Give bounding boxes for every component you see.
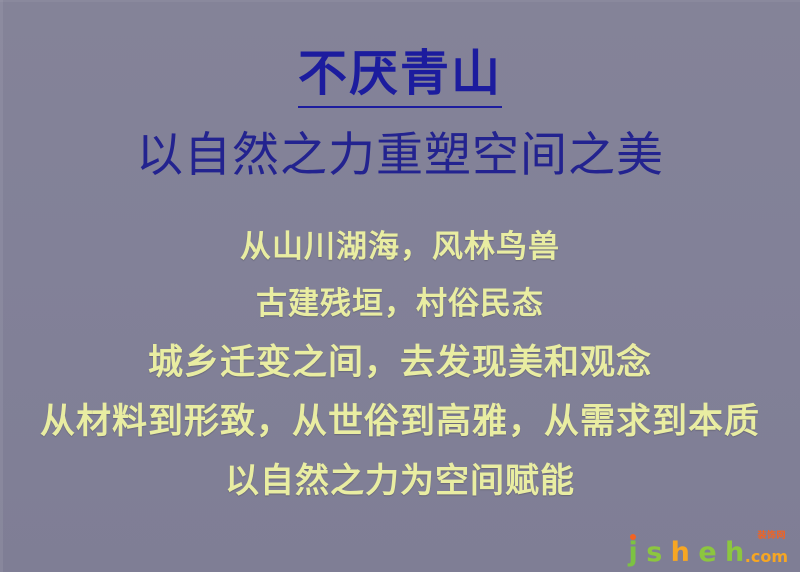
watermark-dot-icon bbox=[630, 534, 636, 540]
body-line-4: 从材料到形致，从世俗到高雅，从需求到本质 bbox=[0, 405, 800, 440]
watermark-letter-s: s bbox=[646, 537, 662, 568]
body-line-1: 从山川湖海，风林鸟兽 bbox=[0, 232, 800, 263]
watermark-tld: .com bbox=[745, 549, 788, 566]
watermark-letter-h1: h bbox=[671, 537, 690, 568]
page-subtitle: 以自然之力重塑空间之美 bbox=[0, 128, 800, 184]
heading-block: 不厌青山 以自然之力重塑空间之美 bbox=[0, 46, 800, 184]
slide-canvas: 不厌青山 以自然之力重塑空间之美 从山川湖海，风林鸟兽 古建残垣，村俗民态 城乡… bbox=[0, 0, 800, 572]
body-line-5: 以自然之力为空间赋能 bbox=[0, 464, 800, 498]
body-line-2: 古建残垣，村俗民态 bbox=[0, 289, 800, 320]
body-line-3: 城乡迁变之间，去发现美和观念 bbox=[0, 346, 800, 381]
watermark-wordmark: j s h e h bbox=[629, 539, 744, 566]
watermark-letter-h2: h bbox=[725, 537, 744, 568]
watermark-letter-j: j bbox=[629, 537, 638, 568]
body-text-block: 从山川湖海，风林鸟兽 古建残垣，村俗民态 城乡迁变之间，去发现美和观念 从材料到… bbox=[0, 232, 800, 498]
watermark-cn-tag: 装饰网 bbox=[757, 532, 786, 541]
watermark-logo: j s h e h .com 装饰网 bbox=[629, 532, 788, 566]
page-title: 不厌青山 bbox=[298, 46, 502, 108]
watermark-letter-e: e bbox=[698, 537, 716, 568]
